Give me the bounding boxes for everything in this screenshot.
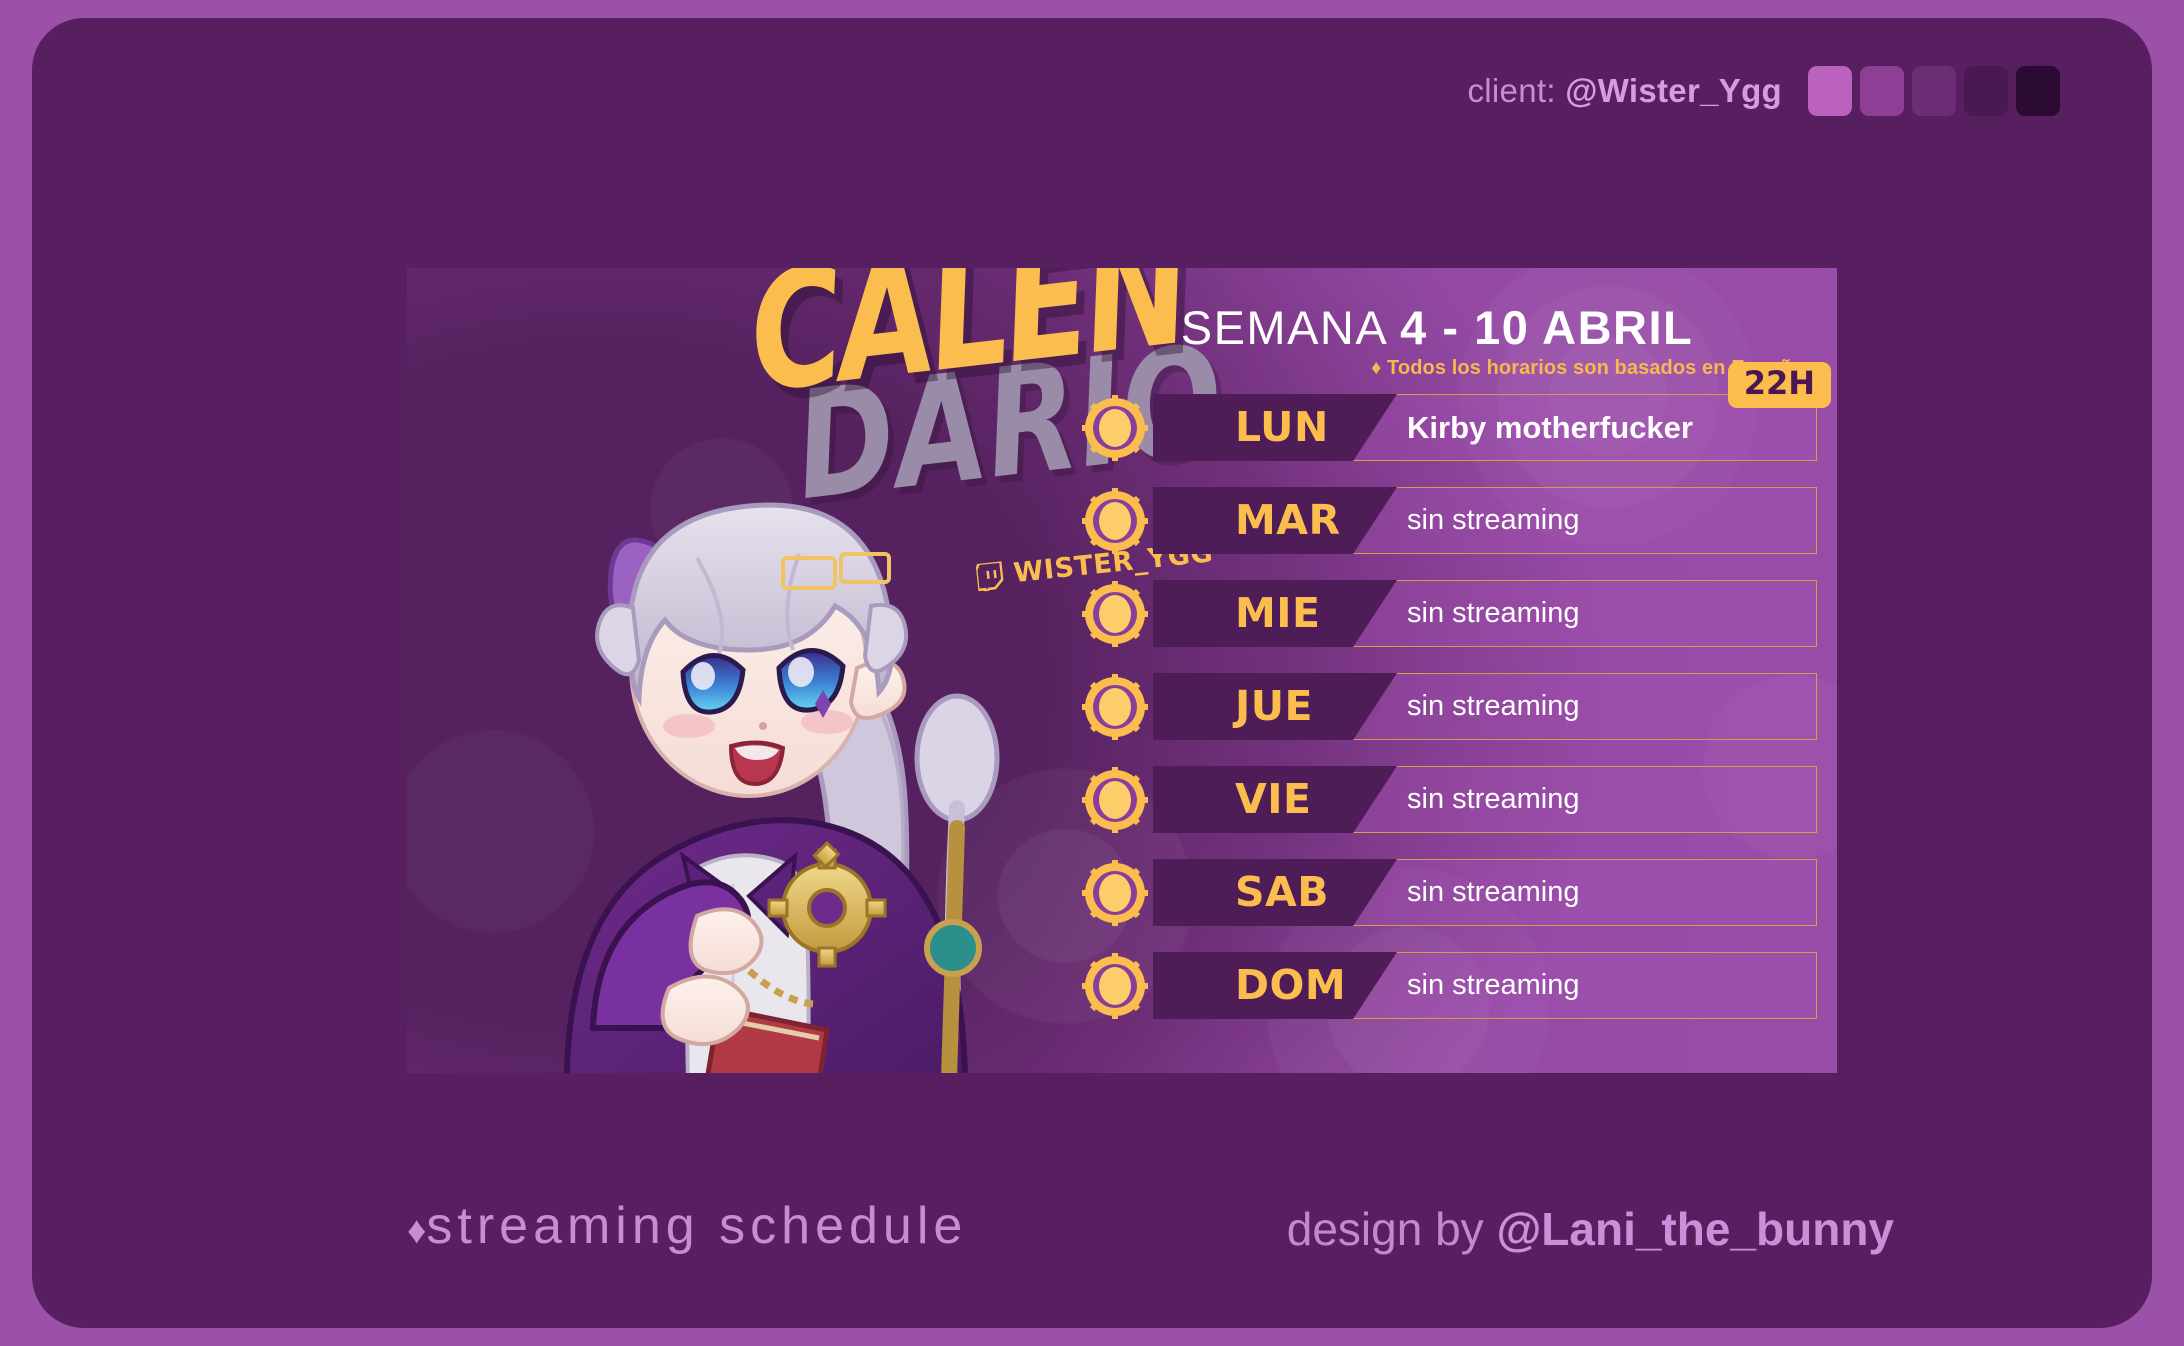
gear-icon [1081, 487, 1149, 555]
timezone-note: ♦ Todos los horarios son basados en Espa… [1067, 357, 1807, 380]
day-row[interactable]: SAB [1067, 859, 1817, 926]
week-header: SEMANA 4 - 10 ABRIL ♦ Todos los horarios… [1067, 300, 1807, 380]
day-label: SAB [1235, 872, 1329, 913]
gear-icon [1081, 394, 1149, 462]
color-swatch-row [1808, 66, 2060, 116]
day-row[interactable]: LUN [1067, 394, 1817, 461]
day-label: DOM [1235, 965, 1346, 1006]
day-label: JUE [1235, 686, 1313, 727]
day-rows-list: LUN [1067, 394, 1817, 1045]
day-label: VIE [1235, 779, 1312, 820]
gear-icon [1081, 952, 1149, 1020]
swatch-3[interactable] [1912, 66, 1956, 116]
client-label-prefix: client: [1467, 72, 1565, 109]
header-bar: client: @Wister_Ygg [1467, 66, 2060, 116]
day-row[interactable]: MAR [1067, 487, 1817, 554]
time-badge: 22H [1728, 362, 1831, 408]
day-activity: sin streaming [1407, 673, 1579, 740]
twitch-icon [976, 561, 1005, 592]
client-label: client: @Wister_Ygg [1467, 72, 1782, 110]
day-row[interactable]: JUE [1067, 673, 1817, 740]
designer-handle[interactable]: @Lani_the_bunny [1496, 1203, 1894, 1255]
swatch-4[interactable] [1964, 66, 2008, 116]
footer-credit: design by @Lani_the_bunny [1287, 1202, 1894, 1256]
day-row[interactable]: MIE [1067, 580, 1817, 647]
design-by-prefix: design by [1287, 1203, 1497, 1255]
day-activity: Kirby motherfucker [1407, 394, 1693, 461]
week-range: 4 - 10 ABRIL [1400, 301, 1693, 354]
week-title: SEMANA 4 - 10 ABRIL [1067, 300, 1807, 355]
week-word: SEMANA [1181, 301, 1400, 354]
character-illustration [407, 308, 1057, 1073]
day-activity: sin streaming [1407, 859, 1579, 926]
day-row[interactable]: DOM [1067, 952, 1817, 1019]
day-activity: sin streaming [1407, 580, 1579, 647]
day-label: MAR [1235, 500, 1341, 541]
schedule-label-text: streaming schedule [426, 1197, 967, 1255]
day-activity: sin streaming [1407, 952, 1579, 1019]
day-label: MIE [1235, 593, 1321, 634]
gear-icon [1081, 859, 1149, 927]
day-activity: sin streaming [1407, 766, 1579, 833]
day-label: LUN [1235, 407, 1329, 448]
swatch-5[interactable] [2016, 66, 2060, 116]
gear-icon [1081, 766, 1149, 834]
day-activity: sin streaming [1407, 487, 1579, 554]
swatch-2[interactable] [1860, 66, 1904, 116]
app-frame: client: @Wister_Ygg [32, 18, 2152, 1328]
footer-schedule-label: ♦streaming schedule [407, 1196, 967, 1256]
gear-icon [1081, 673, 1149, 741]
client-handle: @Wister_Ygg [1565, 72, 1782, 109]
day-row[interactable]: VIE [1067, 766, 1817, 833]
diamond-icon: ♦ [407, 1210, 426, 1252]
schedule-panel: SEMANA 4 - 10 ABRIL ♦ Todos los horarios… [1067, 268, 1837, 1073]
swatch-1[interactable] [1808, 66, 1852, 116]
schedule-card: DARIO CALEN WISTER_YGG SEMANA 4 - 10 ABR… [407, 268, 1837, 1073]
gear-icon [1081, 580, 1149, 648]
